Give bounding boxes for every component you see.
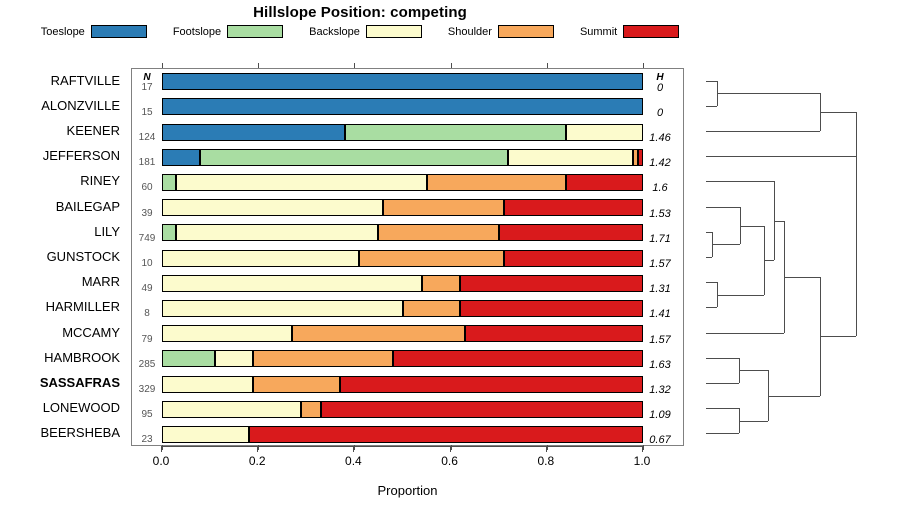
stacked-bars	[132, 69, 683, 445]
h-value: 0	[637, 108, 683, 119]
category-label: LILY	[94, 225, 120, 238]
x-axis-tick-label: 0.2	[249, 454, 266, 468]
category-label: GUNSTOCK	[47, 250, 120, 263]
dendrogram-link	[820, 112, 856, 113]
dendrogram-link	[706, 433, 739, 434]
panel-tick-top	[451, 63, 452, 68]
bar-segment-backslope[interactable]	[162, 325, 292, 342]
x-axis-line	[161, 446, 642, 447]
category-label: RAFTVILLE	[51, 74, 120, 87]
panel-tick-top	[162, 63, 163, 68]
bar-segment-shoulder[interactable]	[253, 350, 392, 367]
category-label: RINEY	[80, 174, 120, 187]
h-value: 1.63	[637, 360, 683, 371]
dendrogram-link	[706, 106, 717, 107]
bar-row[interactable]	[162, 275, 643, 292]
dendrogram-link	[774, 221, 784, 222]
h-value: 1.6	[637, 183, 683, 194]
category-label: SASSAFRAS	[40, 376, 120, 389]
legend: ToeslopeFootslopeBackslopeShoulderSummit	[0, 25, 720, 38]
dendrogram-link	[784, 277, 820, 278]
bar-segment-backslope[interactable]	[162, 250, 359, 267]
bar-segment-shoulder[interactable]	[403, 300, 461, 317]
dendrogram-link	[706, 131, 820, 132]
x-axis-tick	[257, 446, 258, 452]
category-label: LONEWOOD	[43, 401, 120, 414]
category-label: HAMBROOK	[44, 351, 120, 364]
dendrogram-link	[739, 370, 768, 371]
category-label: ALONZVILLE	[41, 99, 120, 112]
x-axis-tick-label: 0.8	[537, 454, 554, 468]
bar-row[interactable]	[162, 98, 643, 115]
bar-segment-footslope[interactable]	[200, 149, 508, 166]
bar-segment-footslope[interactable]	[162, 174, 176, 191]
dendrogram-link	[706, 207, 740, 208]
bar-segment-backslope[interactable]	[566, 124, 643, 141]
h-column: H001.461.421.61.531.711.571.311.411.571.…	[637, 69, 683, 445]
legend-item-summit[interactable]: Summit	[580, 25, 679, 38]
bar-segment-backslope[interactable]	[215, 350, 253, 367]
chart-title: Hillslope Position: competing	[0, 4, 720, 21]
h-value: 1.31	[637, 284, 683, 295]
bar-segment-backslope[interactable]	[162, 426, 249, 443]
legend-swatch-footslope	[227, 25, 283, 38]
legend-label: Summit	[580, 26, 617, 38]
category-label: BEERSHEBA	[41, 426, 120, 439]
bar-segment-backslope[interactable]	[176, 174, 426, 191]
dendrogram-link	[706, 307, 717, 308]
bar-segment-footslope[interactable]	[345, 124, 566, 141]
bar-segment-shoulder[interactable]	[359, 250, 503, 267]
legend-label: Footslope	[173, 26, 221, 38]
category-label: JEFFERSON	[43, 149, 120, 162]
dendrogram-link	[706, 333, 784, 334]
bar-segment-summit[interactable]	[504, 250, 643, 267]
h-value: 1.42	[637, 158, 683, 169]
bar-segment-toeslope[interactable]	[162, 149, 200, 166]
dendrogram-link	[717, 93, 820, 94]
bar-segment-summit[interactable]	[504, 199, 643, 216]
x-axis-title: Proportion	[131, 483, 684, 498]
bar-segment-summit[interactable]	[465, 325, 643, 342]
category-axis-labels: RAFTVILLEALONZVILLEKEENERJEFFERSONRINEYB…	[0, 68, 126, 446]
x-axis-tick	[546, 446, 547, 452]
dendrogram-link	[717, 295, 764, 296]
legend-item-backslope[interactable]: Backslope	[309, 25, 422, 38]
bar-row[interactable]	[162, 250, 643, 267]
legend-swatch-summit	[623, 25, 679, 38]
category-label: MCCAMY	[62, 326, 120, 339]
panel-tick-top	[258, 63, 259, 68]
bar-segment-summit[interactable]	[393, 350, 643, 367]
category-label: BAILEGAP	[56, 200, 120, 213]
legend-label: Toeslope	[41, 26, 85, 38]
bar-segment-backslope[interactable]	[176, 224, 378, 241]
x-axis-tick	[642, 446, 643, 452]
dendrogram-link	[764, 260, 774, 261]
bar-row[interactable]	[162, 401, 643, 418]
dendrogram-link	[706, 383, 739, 384]
category-label: MARR	[82, 275, 120, 288]
legend-label: Shoulder	[448, 26, 492, 38]
h-value: 1.57	[637, 259, 683, 270]
legend-swatch-backslope	[366, 25, 422, 38]
bar-segment-shoulder[interactable]	[301, 401, 320, 418]
bar-segment-backslope[interactable]	[162, 275, 422, 292]
bar-segment-summit[interactable]	[566, 174, 643, 191]
plot-panel: N1715124181603974910498792853299523 H001…	[131, 68, 684, 446]
x-axis-tick-label: 0.4	[345, 454, 362, 468]
category-label: HARMILLER	[46, 300, 120, 313]
dendrogram-link	[739, 421, 768, 422]
bar-segment-summit[interactable]	[340, 376, 643, 393]
bar-row[interactable]	[162, 300, 643, 317]
x-axis-tick-label: 0.6	[441, 454, 458, 468]
bar-row[interactable]	[162, 426, 643, 443]
bar-row[interactable]	[162, 149, 643, 166]
x-axis-tick-label: 1.0	[634, 454, 651, 468]
bar-segment-footslope[interactable]	[162, 224, 176, 241]
bar-row[interactable]	[162, 199, 643, 216]
bar-segment-toeslope[interactable]	[162, 98, 643, 115]
bar-segment-backslope[interactable]	[162, 376, 253, 393]
bar-row[interactable]	[162, 224, 643, 241]
dendrogram-link	[706, 181, 774, 182]
bar-row[interactable]	[162, 73, 643, 90]
x-axis-tick-label: 0.0	[153, 454, 170, 468]
dendrogram-link	[706, 257, 712, 258]
bar-segment-shoulder[interactable]	[427, 174, 566, 191]
dendrogram-link	[740, 226, 764, 227]
dendrogram-link	[706, 156, 856, 157]
category-label: KEENER	[67, 124, 120, 137]
h-value: 1.53	[637, 209, 683, 220]
dendrogram-link	[820, 336, 856, 337]
dendrogram-link	[706, 81, 717, 82]
h-value: 1.57	[637, 335, 683, 346]
h-value: 1.46	[637, 133, 683, 144]
dendrogram-link	[706, 282, 717, 283]
x-axis-tick	[161, 446, 162, 452]
bar-segment-backslope[interactable]	[508, 149, 633, 166]
bar-segment-summit[interactable]	[460, 275, 643, 292]
legend-swatch-shoulder	[498, 25, 554, 38]
panel-tick-top	[547, 63, 548, 68]
bar-row[interactable]	[162, 376, 643, 393]
legend-item-toeslope[interactable]: Toeslope	[41, 25, 147, 38]
bar-row[interactable]	[162, 174, 643, 191]
bar-segment-summit[interactable]	[249, 426, 643, 443]
chart-root: Hillslope Position: competing ToeslopeFo…	[0, 0, 900, 520]
dendrogram	[684, 68, 900, 446]
bar-segment-shoulder[interactable]	[378, 224, 498, 241]
bar-segment-toeslope[interactable]	[162, 124, 345, 141]
x-axis-tick	[450, 446, 451, 452]
legend-swatch-toeslope	[91, 25, 147, 38]
dendrogram-link	[856, 134, 857, 336]
h-value: 1.41	[637, 309, 683, 320]
bar-row[interactable]	[162, 124, 643, 141]
bar-segment-footslope[interactable]	[162, 350, 215, 367]
bar-segment-summit[interactable]	[321, 401, 643, 418]
dendrogram-link	[712, 244, 740, 245]
legend-label: Backslope	[309, 26, 360, 38]
h-value: 1.32	[637, 385, 683, 396]
bar-segment-summit[interactable]	[499, 224, 643, 241]
dendrogram-link	[706, 408, 739, 409]
legend-item-footslope[interactable]: Footslope	[173, 25, 283, 38]
h-value: 0	[637, 83, 683, 94]
bar-segment-shoulder[interactable]	[292, 325, 465, 342]
x-axis: 0.00.20.40.60.81.0	[131, 446, 684, 448]
h-value: 1.09	[637, 410, 683, 421]
bar-segment-backslope[interactable]	[162, 401, 301, 418]
legend-item-shoulder[interactable]: Shoulder	[448, 25, 554, 38]
panel-tick-top	[354, 63, 355, 68]
x-axis-tick	[353, 446, 354, 452]
dendrogram-link	[768, 396, 820, 397]
bar-segment-toeslope[interactable]	[162, 73, 643, 90]
bar-segment-shoulder[interactable]	[422, 275, 460, 292]
bar-segment-shoulder[interactable]	[253, 376, 340, 393]
panel-tick-top	[643, 63, 644, 68]
bar-segment-backslope[interactable]	[162, 300, 403, 317]
bar-segment-summit[interactable]	[460, 300, 643, 317]
bar-segment-shoulder[interactable]	[383, 199, 503, 216]
dendrogram-link	[706, 358, 739, 359]
bar-row[interactable]	[162, 325, 643, 342]
bar-segment-backslope[interactable]	[162, 199, 383, 216]
h-value: 1.71	[637, 234, 683, 245]
bar-row[interactable]	[162, 350, 643, 367]
